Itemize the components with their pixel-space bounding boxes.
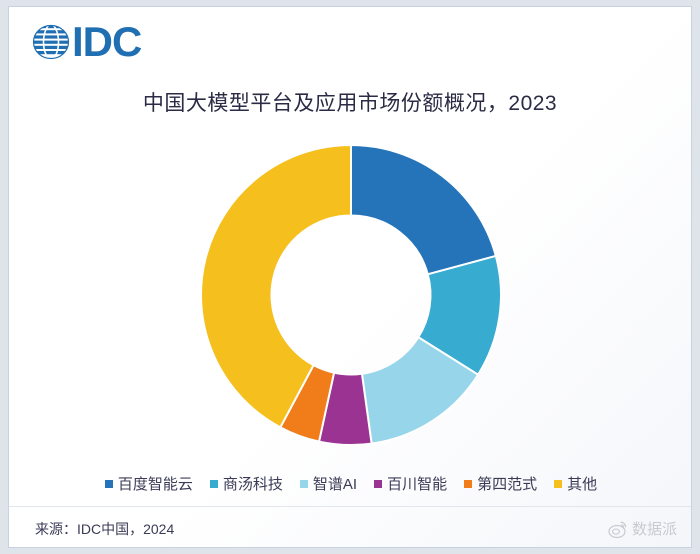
legend-label: 其他 (567, 473, 597, 494)
footer-divider (9, 506, 692, 507)
legend-item[interactable]: 智谱AI (300, 473, 357, 494)
donut-slice-group (201, 145, 501, 445)
legend-item[interactable]: 百度智能云 (105, 473, 193, 494)
legend-swatch (554, 480, 562, 488)
legend-item[interactable]: 百川智能 (374, 473, 447, 494)
weibo-icon (608, 519, 628, 539)
legend-label: 百川智能 (387, 473, 447, 494)
legend-label: 智谱AI (313, 473, 357, 494)
legend-swatch (464, 480, 472, 488)
donut-chart (9, 135, 692, 465)
donut-slice[interactable] (351, 145, 496, 274)
legend-item[interactable]: 第四范式 (464, 473, 537, 494)
legend-item[interactable]: 其他 (554, 473, 597, 494)
chart-legend: 百度智能云商汤科技智谱AI百川智能第四范式其他 (9, 473, 692, 494)
legend-label: 百度智能云 (118, 473, 193, 494)
globe-icon (31, 22, 71, 62)
legend-label: 商汤科技 (223, 473, 283, 494)
donut-chart-svg (191, 135, 511, 455)
weibo-watermark: 数据派 (608, 518, 677, 539)
legend-swatch (374, 480, 382, 488)
legend-swatch (210, 480, 218, 488)
watermark-label: 数据派 (632, 518, 677, 539)
source-note: 来源：IDC中国，2024 (35, 519, 174, 539)
legend-item[interactable]: 商汤科技 (210, 473, 283, 494)
idc-logo: IDC (31, 19, 141, 65)
legend-label: 第四范式 (477, 473, 537, 494)
slide-canvas: IDC 中国大模型平台及应用市场份额概况，2023 百度智能云商汤科技智谱AI百… (8, 6, 692, 548)
logo-wordmark: IDC (72, 22, 141, 62)
chart-title: 中国大模型平台及应用市场份额概况，2023 (9, 87, 691, 117)
legend-swatch (300, 480, 308, 488)
legend-swatch (105, 480, 113, 488)
